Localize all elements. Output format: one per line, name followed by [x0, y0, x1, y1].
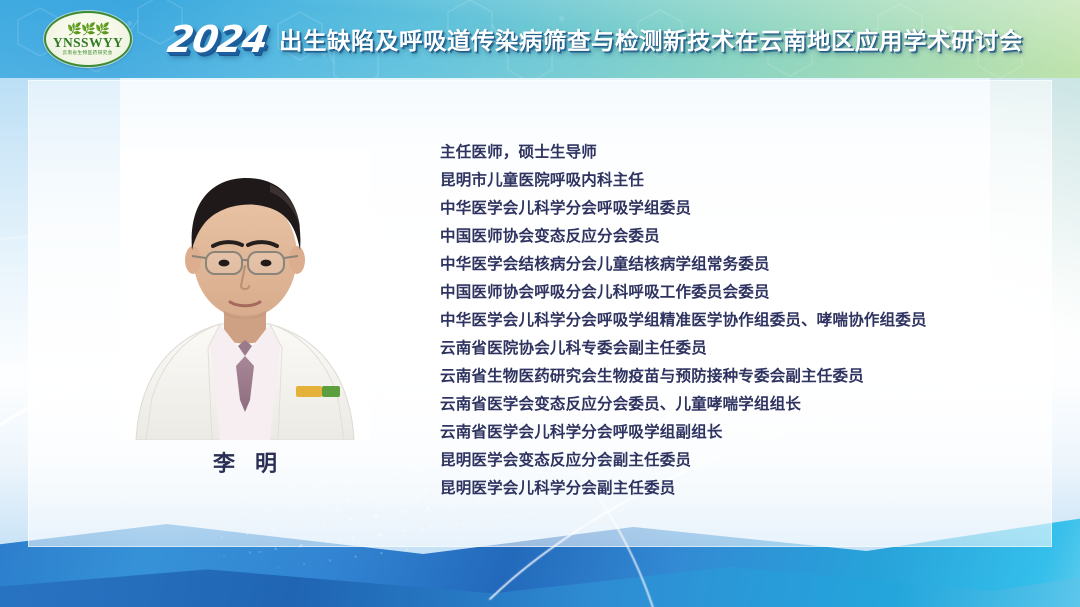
slide-header-bar: 🌿🌿🌿 YNSSWYY 云南省生物医药研究会 2024 出生缺陷及呼吸道传染病筛… [0, 0, 1080, 78]
bio-line: 中国医师协会呼吸分会儿科呼吸工作委员会委员 [440, 279, 1040, 307]
bio-line: 昆明医学会儿科学分会副主任委员 [440, 475, 1040, 503]
conference-year: 2024 [165, 18, 271, 61]
bio-line: 中华医学会儿科学分会呼吸学组精准医学协作组委员、哮喘协作组委员 [440, 307, 1040, 335]
bio-line: 云南省医学会变态反应分会委员、儿童哮喘学组组长 [440, 391, 1040, 419]
logo-subtitle: 云南省生物医药研究会 [63, 51, 113, 56]
bio-line: 中华医学会儿科学分会呼吸学组委员 [440, 195, 1040, 223]
bio-line: 云南省生物医药研究会生物疫苗与预防接种专委会副主任委员 [440, 363, 1040, 391]
bio-line: 云南省医学会儿科学分会呼吸学组副组长 [440, 419, 1040, 447]
header-title-group: 2024 出生缺陷及呼吸道传染病筛查与检测新技术在云南地区应用学术研讨会 [168, 14, 1072, 64]
speaker-bio-list: 主任医师，硕士生导师 昆明市儿童医院呼吸内科主任 中华医学会儿科学分会呼吸学组委… [440, 139, 1040, 503]
presentation-slide: 🌿🌿🌿 YNSSWYY 云南省生物医药研究会 2024 出生缺陷及呼吸道传染病筛… [0, 0, 1080, 607]
bio-line: 昆明市儿童医院呼吸内科主任 [440, 167, 1040, 195]
speaker-photo [120, 150, 370, 440]
bio-line: 云南省医院协会儿科专委会副主任委员 [440, 335, 1040, 363]
bio-line: 昆明医学会变态反应分会副主任委员 [440, 447, 1040, 475]
leaf-icon: 🌿🌿🌿 [67, 23, 109, 35]
logo-acronym: YNSSWYY [53, 36, 123, 50]
bio-line: 中国医师协会变态反应分会委员 [440, 223, 1040, 251]
conference-title: 出生缺陷及呼吸道传染病筛查与检测新技术在云南地区应用学术研讨会 [279, 22, 1023, 56]
speaker-portrait: 李 明 [120, 150, 370, 440]
bio-line: 中华医学会结核病分会儿童结核病学组常务委员 [440, 251, 1040, 279]
organization-logo: 🌿🌿🌿 YNSSWYY 云南省生物医药研究会 [44, 11, 132, 67]
bio-line: 主任医师，硕士生导师 [440, 139, 1040, 167]
speaker-name: 李 明 [120, 446, 370, 478]
